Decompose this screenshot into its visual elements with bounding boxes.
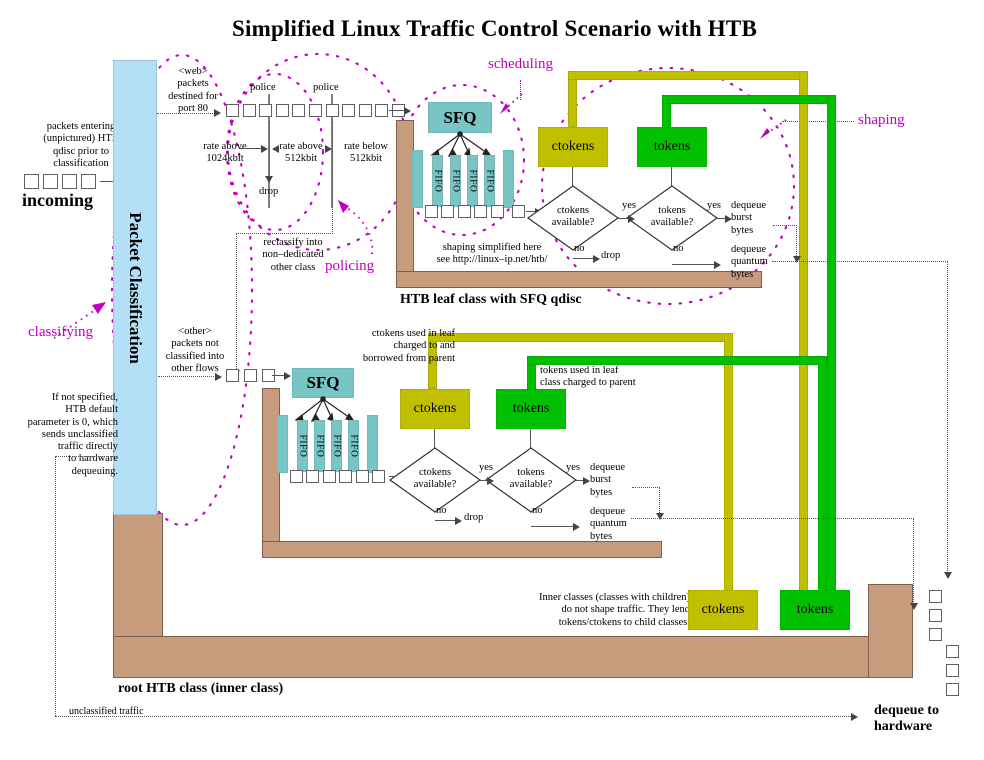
fifo-bar-outer-left-top — [412, 150, 423, 208]
scheduling-pointer-arrow — [500, 92, 526, 116]
dequeue-burst-note-bottom: dequeue burst bytes — [590, 462, 650, 499]
ctokens-decision-line-2: available? — [397, 479, 473, 491]
fifo-bar-top[interactable]: FIFO — [467, 155, 478, 207]
web-flow-entry-dotted-line — [157, 113, 217, 114]
tokens-pipe-right-down-top — [827, 95, 836, 608]
rate-3-line-2: 512kbit — [340, 153, 392, 165]
htb-default-note-line-7: dequeuing. — [14, 466, 118, 478]
htb-default-note-line-4: sends unclassified — [14, 429, 118, 441]
htb-default-note-line-5: traffic directly — [14, 441, 118, 453]
ctokens-pipe-right-down — [799, 71, 808, 608]
ctokens-no-label-bottom: no — [436, 505, 447, 517]
fifo-label: FIFO — [315, 435, 325, 458]
reclassify-line-1: reclassify into — [241, 237, 345, 249]
leaf-class-bottom-bottom-wall — [262, 541, 662, 558]
ctokens-charging-line-1: ctokens used in leaf — [335, 328, 455, 340]
rate-above-512-label: rate above 512kbit — [275, 141, 327, 166]
tokens-charging-note: tokens used in leaf class charged to par… — [540, 365, 680, 390]
egress-queue-col-1 — [929, 590, 942, 641]
packet-square — [81, 174, 96, 189]
rate-2-line-left — [276, 148, 278, 149]
shaping-pointer-arrow — [760, 118, 790, 142]
bottom-dequeue-out-hline — [631, 518, 914, 519]
page-title: Simplified Linux Traffic Control Scenari… — [232, 16, 757, 42]
ctokens-yes-label-bottom: yes — [479, 462, 493, 474]
rate-2-line-1: rate above — [275, 141, 327, 153]
tokens-top-stem — [671, 167, 672, 186]
rate-2-arrow-right — [325, 145, 332, 153]
reclassify-vline-1 — [332, 122, 333, 234]
annotation-scheduling: scheduling — [488, 56, 553, 73]
dequeue-quantum-line-1: dequeue — [731, 244, 791, 256]
packet-square — [491, 205, 504, 218]
tokens-no-label-bottom: no — [532, 505, 543, 517]
packet-classification-label: Packet Classification — [125, 212, 145, 364]
annotation-shaping: shaping — [858, 112, 905, 129]
other-flow-entry-arrow — [215, 373, 222, 381]
other-flow-source-line-3: classified into — [158, 351, 232, 363]
tokens-yes-label-top: yes — [707, 200, 721, 212]
ctokens-decision-line-2: available? — [535, 217, 611, 229]
root-class-bottom-wall — [113, 636, 913, 678]
leaf-bottom-queue — [290, 470, 385, 483]
dequeue-burst-note-top: dequeue burst bytes — [731, 200, 791, 237]
ctokens-charging-line-3: borrowed from parent — [335, 353, 455, 365]
packet-square — [226, 369, 239, 382]
ctokens-decision-text-bottom: ctokens available? — [397, 467, 473, 491]
dequeue-quantum-line-2: quantum — [731, 256, 791, 268]
packet-square — [512, 205, 525, 218]
other-flow-source-line-2: packets not — [158, 338, 232, 350]
fifo-bar-bottom[interactable]: FIFO — [331, 420, 342, 472]
tokens-label-bottom: tokens — [513, 401, 550, 417]
root-class-caption: root HTB class (inner class) — [118, 681, 283, 697]
other-flow-entry-dotted-line — [158, 376, 218, 377]
packet-square — [929, 609, 942, 622]
web-packet-queue — [226, 104, 405, 117]
top-dequeue-out-arrow — [944, 572, 952, 579]
bottom-dequeue-out-arrow — [910, 603, 918, 610]
tokens-decision-line-1: tokens — [493, 467, 569, 479]
reclassify-note: reclassify into non–dedicated other clas… — [241, 237, 345, 274]
police-label-1: police — [250, 82, 276, 94]
tokens-pipe-top-horizontal — [662, 95, 836, 104]
dequeue-burst-line-3: bytes — [590, 487, 650, 499]
packet-square — [323, 470, 336, 483]
unclassified-traffic-label: unclassified traffic — [69, 706, 144, 717]
packet-square — [306, 470, 319, 483]
fifo-bar-bottom[interactable]: FIFO — [348, 420, 359, 472]
other-flow-source-note: <other> packets not classified into othe… — [158, 326, 232, 375]
tokens-box-top[interactable]: tokens — [637, 127, 707, 167]
tokens-charging-line-2: class charged to parent — [540, 377, 680, 389]
ctokens-decision-line-1: ctokens — [397, 467, 473, 479]
packet-square — [24, 174, 39, 189]
incoming-label: incoming — [22, 190, 93, 210]
sfq-fanout-bottom — [282, 396, 374, 426]
reclassify-line-2: non–dedicated — [241, 249, 345, 261]
leaf-class-top-bottom-wall — [396, 271, 762, 288]
ctokens-charging-line-2: charged to and — [335, 340, 455, 352]
ctokens-box-bottom[interactable]: ctokens — [400, 389, 470, 429]
packet-square — [226, 104, 239, 117]
packet-square — [946, 664, 959, 677]
other-flow-source-line-1: <other> — [158, 326, 232, 338]
reclassify-hline — [236, 233, 333, 234]
tokens-yes-label-bottom: yes — [566, 462, 580, 474]
unclassified-arrow — [851, 713, 858, 721]
ctokens-bottom-stem — [434, 429, 435, 448]
htb-default-note-line-3: parameter is 0, which — [14, 417, 118, 429]
shaping-pointer-line — [782, 121, 854, 122]
packet-square — [359, 104, 372, 117]
fifo-bar-bottom[interactable]: FIFO — [297, 420, 308, 472]
ctokens-decision-text-top: ctokens available? — [535, 205, 611, 229]
dequeue-burst-line-3: bytes — [731, 225, 791, 237]
unclassified-hline — [55, 716, 855, 717]
tokens-no-line-top — [672, 264, 718, 265]
ctokens-yes-arrow-bottom — [487, 477, 494, 485]
packet-classification-box[interactable]: Packet Classification — [113, 60, 157, 515]
tokens-decision-line-1: tokens — [634, 205, 710, 217]
web-drop-label: drop — [259, 186, 278, 198]
leaf-bottom-drop-label: drop — [464, 512, 483, 524]
root-class-right-wall — [868, 584, 913, 678]
bottom-dequeue-out-vline — [913, 518, 914, 606]
unclassified-vline — [55, 456, 56, 716]
ctokens-top-stem — [572, 167, 573, 186]
ctokens-yes-label-top: yes — [622, 200, 636, 212]
rate-1-arrow — [261, 145, 268, 153]
sfq-box-top[interactable]: SFQ — [428, 102, 492, 133]
tokens-no-line-bottom — [531, 526, 577, 527]
other-queue-to-sfq-arrow — [284, 372, 291, 380]
packet-square — [43, 174, 58, 189]
bottom-dequeue-join-hline — [632, 487, 660, 488]
dequeue-label-line-1: dequeue to — [874, 703, 939, 719]
rate-2-line-2: 512kbit — [275, 153, 327, 165]
tokens-pipe-bottom-horizontal — [527, 356, 827, 365]
ctokens-yes-arrow-top — [628, 215, 635, 223]
rate-3-line-1: rate below — [340, 141, 392, 153]
tokens-box-root[interactable]: tokens — [780, 590, 850, 630]
dequeue-burst-line-1: dequeue — [731, 200, 791, 212]
sfq-box-bottom[interactable]: SFQ — [292, 368, 354, 398]
dequeue-to-hardware-label: dequeue to hardware — [874, 703, 939, 735]
tokens-yes-arrow-bottom — [583, 477, 590, 485]
packet-square — [244, 369, 257, 382]
tokens-decision-text-bottom: tokens available? — [493, 467, 569, 491]
packet-square — [458, 205, 471, 218]
top-dequeue-join-hline — [773, 225, 797, 226]
annotation-classifying: classifying — [28, 324, 93, 341]
dequeue-quantum-note-bottom: dequeue quantum bytes — [590, 506, 650, 543]
packet-square — [474, 205, 487, 218]
ctokens-decision-line-1: ctokens — [535, 205, 611, 217]
htb-default-note: If not specified, HTB default parameter … — [14, 392, 118, 478]
police-label-2: police — [313, 82, 339, 94]
packet-square — [309, 104, 322, 117]
packet-square — [243, 104, 256, 117]
tokens-no-label-top: no — [673, 243, 684, 255]
reclassify-line-3: other class — [241, 262, 345, 274]
dequeue-burst-line-2: burst — [731, 212, 791, 224]
tokens-decision-line-2: available? — [634, 217, 710, 229]
web-flow-source-note: <web> packets destined for port 80 — [160, 66, 226, 115]
tokens-no-arrow-top — [714, 261, 721, 269]
tokens-pipe-bottom-right-down — [818, 356, 827, 608]
sfq-label-top: SFQ — [443, 108, 476, 128]
ctokens-box-root[interactable]: ctokens — [688, 590, 758, 630]
ctokens-label-root: ctokens — [702, 602, 745, 618]
leaf-class-bottom-left-wall — [262, 388, 280, 558]
packet-square — [62, 174, 77, 189]
dequeue-quantum-note-top: dequeue quantum bytes — [731, 244, 791, 281]
dequeue-quantum-line-3: bytes — [731, 269, 791, 281]
packet-square — [259, 104, 272, 117]
egress-queue-col-2 — [946, 645, 959, 696]
rate-1-line-2: 1024kbit — [188, 153, 262, 165]
top-dequeue-join-vline — [796, 225, 797, 260]
dequeue-quantum-line-1: dequeue — [590, 506, 650, 518]
drop-arrow — [265, 176, 273, 183]
ctokens-pipe-bottom-right-down — [724, 333, 733, 608]
inner-class-note-line-1: Inner classes (classes with children) — [522, 592, 690, 604]
tokens-decision-text-top: tokens available? — [634, 205, 710, 229]
ctokens-no-label-top: no — [574, 243, 585, 255]
dequeue-quantum-line-3: bytes — [590, 531, 650, 543]
packet-square — [326, 104, 339, 117]
other-packet-queue — [226, 369, 275, 382]
tokens-no-arrow-bottom — [573, 523, 580, 531]
tokens-bottom-stem — [530, 429, 531, 448]
top-dequeue-out-vline — [947, 261, 948, 575]
incoming-packet-queue — [24, 174, 96, 189]
packet-square — [375, 104, 388, 117]
fifo-bar-outer-right-top — [503, 150, 514, 208]
fifo-label: FIFO — [332, 435, 342, 458]
web-flow-source-line-3: destined for — [160, 91, 226, 103]
leaf-class-top-caption: HTB leaf class with SFQ qdisc — [400, 292, 582, 308]
ctokens-label-bottom: ctokens — [414, 401, 457, 417]
web-flow-source-line-2: packets — [160, 78, 226, 90]
shaping-note-line-2: see http://linux–ip.net/htb/ — [412, 254, 572, 266]
ctokens-pipe-top-horizontal — [568, 71, 808, 80]
packet-square — [425, 205, 438, 218]
fifo-label: FIFO — [451, 170, 461, 193]
web-flow-entry-arrow — [214, 109, 221, 117]
leaf-top-queue — [425, 205, 504, 218]
web-flow-source-line-1: <web> — [160, 66, 226, 78]
tokens-charging-line-1: tokens used in leaf — [540, 365, 680, 377]
inner-class-note: Inner classes (classes with children) do… — [522, 592, 690, 629]
htb-default-note-line-2: HTB default — [14, 404, 118, 416]
ctokens-box-top[interactable]: ctokens — [538, 127, 608, 167]
fifo-label: FIFO — [433, 170, 443, 193]
rate-below-512-label: rate below 512kbit — [340, 141, 392, 166]
packet-square — [339, 470, 352, 483]
packet-square — [929, 590, 942, 603]
fifo-bar-outer-right-bottom — [367, 415, 378, 473]
packet-square — [342, 104, 355, 117]
packet-square — [290, 470, 303, 483]
dequeue-quantum-line-2: quantum — [590, 518, 650, 530]
leaf-top-drop-label: drop — [601, 250, 620, 262]
tokens-decision-line-2: available? — [493, 479, 569, 491]
reclassify-vline-2 — [236, 233, 237, 373]
packet-square — [946, 683, 959, 696]
packet-square — [929, 628, 942, 641]
ctokens-label-top: ctokens — [552, 139, 595, 155]
incoming-label-wrap: incoming — [22, 190, 93, 211]
fifo-bar-outer-left-bottom — [277, 415, 288, 473]
web-queue-to-sfq-arrow — [404, 107, 411, 115]
dequeue-burst-line-2: burst — [590, 474, 650, 486]
ctokens-no-arrow-bottom — [455, 517, 462, 525]
fifo-bar-top[interactable]: FIFO — [484, 155, 495, 207]
drop-dotted-line — [269, 122, 270, 178]
unclassified-top-hline — [55, 456, 115, 457]
fifo-bar-top[interactable]: FIFO — [432, 155, 443, 207]
ctokens-charging-note: ctokens used in leaf charged to and borr… — [335, 328, 455, 365]
packet-square — [292, 104, 305, 117]
fifo-label: FIFO — [349, 435, 359, 458]
sfq-label-bottom: SFQ — [306, 373, 339, 393]
dequeue-burst-line-1: dequeue — [590, 462, 650, 474]
packet-square — [946, 645, 959, 658]
ctokens-no-arrow-top — [593, 255, 600, 263]
fifo-label: FIFO — [485, 170, 495, 193]
tokens-label-top: tokens — [654, 139, 691, 155]
fifo-label: FIFO — [468, 170, 478, 193]
top-dequeue-out-hline — [772, 261, 948, 262]
htb-default-note-line-1: If not specified, — [14, 392, 118, 404]
ctokens-pipe-bottom-horizontal — [428, 333, 733, 342]
tokens-box-bottom[interactable]: tokens — [496, 389, 566, 429]
rate-above-1024-label: rate above 1024kbit — [188, 141, 262, 166]
fifo-bar-bottom[interactable]: FIFO — [314, 420, 325, 472]
fifo-bar-top[interactable]: FIFO — [450, 155, 461, 207]
packet-square — [372, 470, 385, 483]
packet-square — [276, 104, 289, 117]
packet-square — [441, 205, 454, 218]
inner-class-note-line-2: do not shape traffic. They lend — [522, 604, 690, 616]
tokens-label-root: tokens — [797, 602, 834, 618]
dequeue-label-line-2: hardware — [874, 719, 939, 735]
fifo-label: FIFO — [298, 435, 308, 458]
packet-square — [356, 470, 369, 483]
diagram-canvas: Simplified Linux Traffic Control Scenari… — [0, 0, 984, 760]
inner-class-note-line-3: tokens/ctokens to child classes. — [522, 617, 690, 629]
